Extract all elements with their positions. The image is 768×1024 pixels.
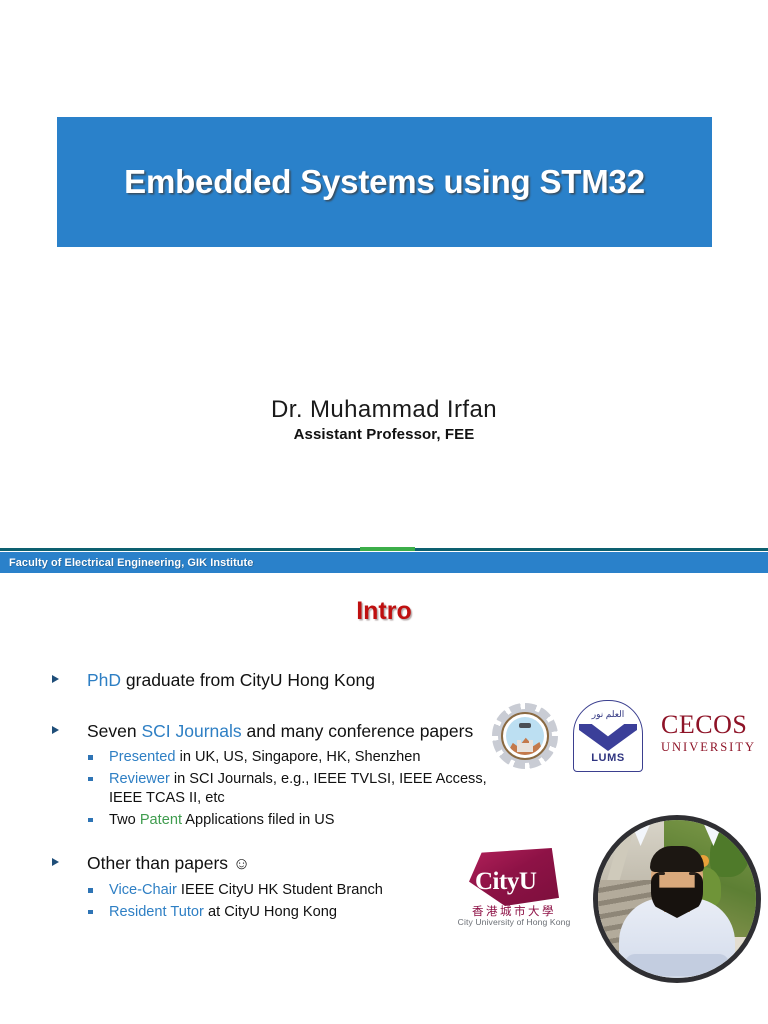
triangle-bullet-icon	[52, 858, 59, 866]
sub-bullet-text: Applications filed in US	[182, 812, 335, 828]
sub-bullet-text: IEEE CityU HK Student Branch	[177, 882, 383, 898]
slide-deck-page: Embedded Systems using STM32 Dr. Muhamma…	[0, 0, 768, 1024]
cecos-logo: CECOS UNIVERSITY	[661, 712, 759, 755]
author-block: Dr. Muhammad Irfan Assistant Professor, …	[0, 396, 768, 443]
author-name: Dr. Muhammad Irfan	[0, 396, 768, 424]
square-bullet-icon	[88, 755, 93, 760]
bullet-text: Other than papers	[87, 853, 233, 873]
footer-accent-green	[360, 547, 415, 551]
spacer	[46, 832, 498, 852]
bullet-text: and many conference papers	[242, 721, 474, 741]
photo-hair	[650, 846, 704, 872]
sub-bullet-highlight: Vice-Chair	[109, 882, 177, 898]
emblem-crest	[519, 723, 531, 728]
square-bullet-icon	[88, 777, 93, 782]
sub-bullet-highlight: Patent	[140, 812, 182, 828]
lums-label: LUMS	[569, 752, 647, 764]
sub-bullet-prefix: Two	[109, 812, 140, 828]
sub-bullet-item: Resident Tutor at CityU Hong Kong	[46, 903, 498, 923]
sub-bullet-item: Two Patent Applications filed in US	[46, 811, 498, 831]
sub-bullet-item: Reviewer in SCI Journals, e.g., IEEE TVL…	[46, 770, 498, 809]
sub-bullet-highlight: Presented	[109, 749, 176, 765]
smiley-icon: ☺	[233, 854, 250, 873]
lums-arabic-text: العلم نور	[569, 709, 647, 720]
bullet-item: Seven SCI Journals and many conference p…	[46, 720, 498, 742]
bullet-item: PhD graduate from CityU Hong Kong	[46, 669, 498, 691]
emblem-inner-circle	[506, 717, 544, 755]
lums-logo-icon: العلم نور LUMS	[569, 698, 647, 776]
sub-bullet-highlight: Resident Tutor	[109, 904, 204, 920]
triangle-bullet-icon	[52, 726, 59, 734]
cityu-mark-text: CityU	[475, 868, 536, 896]
footer-text: Faculty of Electrical Engineering, GIK I…	[9, 557, 253, 569]
sub-bullet-item: Presented in UK, US, Singapore, HK, Shen…	[46, 748, 498, 768]
photo-eye-left	[658, 872, 665, 875]
sub-bullet-text: at CityU Hong Kong	[204, 904, 337, 920]
photo-eye-right	[689, 872, 696, 875]
bullet-highlight: PhD	[87, 670, 121, 690]
photo-arms	[625, 954, 729, 976]
emblem-building	[517, 743, 533, 752]
bullet-list: PhD graduate from CityU Hong Kong Seven …	[46, 669, 498, 924]
content-slide: Intro PhD graduate from CityU Hong Kong …	[0, 573, 768, 1024]
square-bullet-icon	[88, 888, 93, 893]
cityu-english-name: City University of Hong Kong	[449, 917, 579, 927]
page-title: Embedded Systems using STM32	[124, 163, 645, 201]
cecos-name: CECOS	[661, 712, 759, 738]
cityu-logo: CityU 香港城市大學 City University of Hong Kon…	[449, 848, 579, 928]
sub-bullet-list: Vice-Chair IEEE CityU HK Student Branch …	[46, 881, 498, 922]
sub-bullet-list: Presented in UK, US, Singapore, HK, Shen…	[46, 748, 498, 830]
title-slide: Embedded Systems using STM32 Dr. Muhamma…	[0, 0, 768, 552]
logos-row: العلم نور LUMS CECOS UNIVERSITY	[489, 698, 759, 778]
sub-bullet-text: in UK, US, Singapore, HK, Shenzhen	[176, 749, 421, 765]
sub-bullet-item: Vice-Chair IEEE CityU HK Student Branch	[46, 881, 498, 901]
sub-bullet-highlight: Reviewer	[109, 771, 170, 787]
bullet-text: graduate from CityU Hong Kong	[121, 670, 375, 690]
spacer	[46, 697, 498, 720]
footer-bar: Faculty of Electrical Engineering, GIK I…	[0, 552, 768, 573]
title-banner: Embedded Systems using STM32	[57, 117, 712, 247]
author-role: Assistant Professor, FEE	[0, 426, 768, 443]
triangle-bullet-icon	[52, 675, 59, 683]
square-bullet-icon	[88, 910, 93, 915]
avatar	[593, 815, 761, 983]
bullet-prefix: Seven	[87, 721, 141, 741]
giki-logo-icon	[489, 700, 561, 772]
cecos-subtitle: UNIVERSITY	[661, 740, 759, 755]
slide-heading: Intro	[0, 597, 768, 626]
bullet-highlight: SCI Journals	[141, 721, 241, 741]
bullet-item: Other than papers ☺	[46, 852, 498, 875]
square-bullet-icon	[88, 818, 93, 823]
